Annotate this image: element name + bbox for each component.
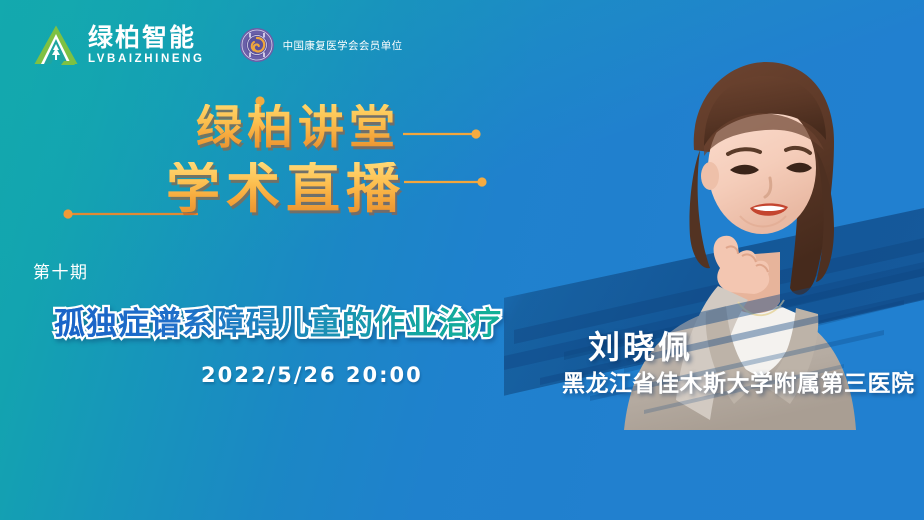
header: 绿柏智能 LVBAIZHINENG 中国康复医学会会员单位 [33, 24, 403, 66]
brand-name-cn: 绿柏智能 [88, 25, 205, 50]
brand-name-en: LVBAIZHINENG [88, 54, 205, 66]
association-label: 中国康复医学会会员单位 [283, 38, 403, 53]
triangle-pine-logo-icon [33, 24, 79, 66]
speaker-name: 刘晓佩 [588, 322, 693, 368]
brand-logo: 绿柏智能 LVBAIZHINENG [33, 24, 205, 66]
association-seal-icon [239, 27, 275, 63]
episode-label: 第十期 [33, 258, 89, 283]
title-block: 绿柏讲堂 学术直播 [0, 104, 560, 216]
live-stream-poster: 绿柏智能 LVBAIZHINENG 中国康复医学会会员单位 [0, 0, 924, 520]
portrait-zone [504, 0, 924, 520]
speaker-portrait [504, 0, 924, 520]
association-badge: 中国康复医学会会员单位 [239, 27, 403, 63]
brand-text: 绿柏智能 LVBAIZHINENG [88, 25, 205, 66]
datetime-label: 2022/5/26 20:00 [201, 363, 423, 387]
topic-title: 孤独症谱系障碍儿童的作业治疗 [54, 298, 502, 343]
title-line-2: 学术直播 [166, 162, 560, 216]
speaker-organization: 黑龙江省佳木斯大学附属第三医院 [562, 364, 915, 398]
